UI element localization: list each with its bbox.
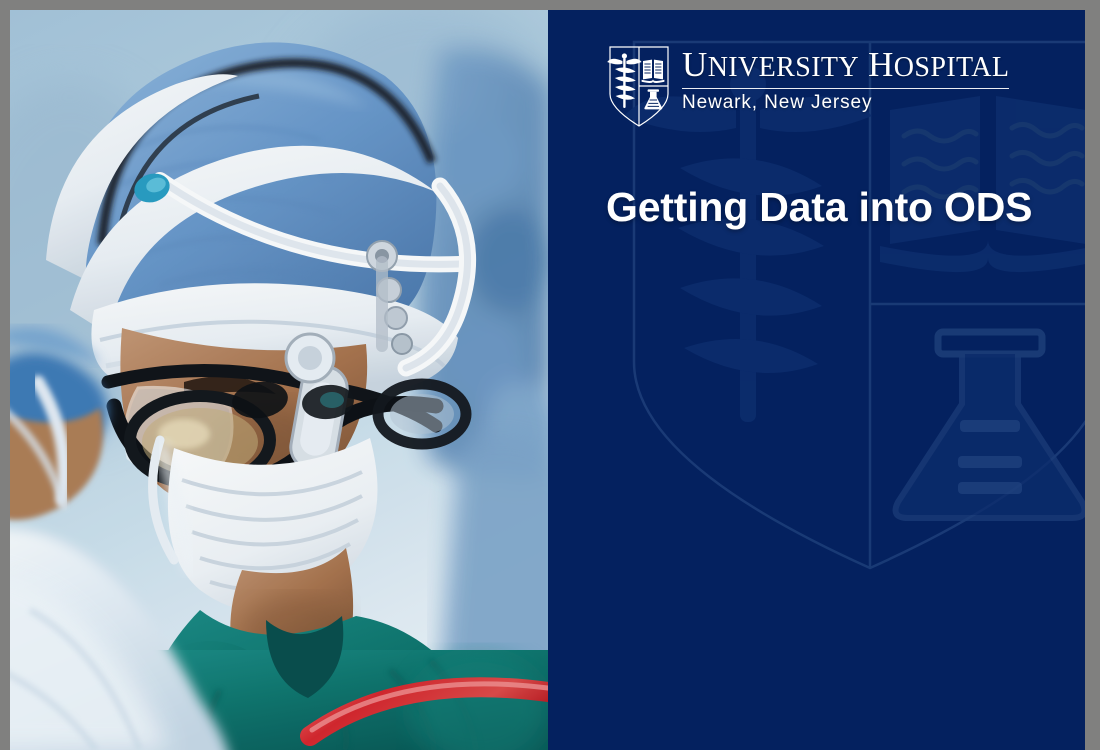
wordmark-rest-niversity: NIVERSITY [708,52,859,83]
university-hospital-logo: UNIVERSITYHOSPITAL Newark, New Jersey [606,44,1009,130]
title-panel: UNIVERSITYHOSPITAL Newark, New Jersey Ge… [548,10,1085,750]
wordmark-cap-u: U [682,45,708,84]
page-title: Getting Data into ODS [606,182,1046,232]
logo-location-text: Newark, New Jersey [682,92,1009,114]
operating-room-photo-illustration [10,10,548,750]
logo-wordmark-block: UNIVERSITYHOSPITAL Newark, New Jersey [682,44,1009,114]
wordmark-cap-h: H [868,45,894,84]
logo-wordmark: UNIVERSITYHOSPITAL [682,48,1009,83]
slide-frame: UNIVERSITYHOSPITAL Newark, New Jersey Ge… [0,0,1100,750]
operating-room-photo [10,10,548,750]
university-hospital-shield-crest-icon [606,44,672,130]
logo-divider-rule [682,88,1009,89]
wordmark-rest-ospital: OSPITAL [894,52,1010,83]
presentation-slide: UNIVERSITYHOSPITAL Newark, New Jersey Ge… [10,10,1085,750]
